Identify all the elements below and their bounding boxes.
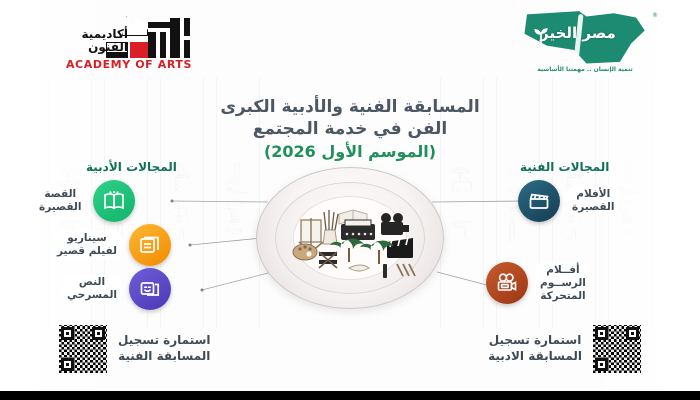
field-animation-films[interactable]: أفــلام الرســوم المتحركة: [486, 262, 591, 304]
center-plate: [256, 167, 444, 309]
qr-code-literary-icon[interactable]: [592, 324, 642, 374]
field-label-theatre-script: النص المسرحي: [62, 274, 122, 304]
registration-artistic-label: استمارة تسجيل المسابقة الفنية: [118, 333, 211, 364]
field-label-short-story: القصة القصيرة: [34, 186, 86, 216]
field-screenplay[interactable]: سيناريو لفيلم قصير: [52, 224, 171, 266]
misr-elkheir-logo: مصر الخير ® تنمية الإنسان .. مهمتنا الأس…: [504, 8, 664, 80]
literary-section-heading: المجالات الأدبية: [86, 160, 177, 174]
registration-literary-label: استمارة تسجيل المسابقة الادبية: [488, 333, 582, 364]
title-line-2: الفن في خدمة المجتمع: [0, 118, 700, 140]
field-theatre-script[interactable]: النص المسرحي: [62, 268, 171, 310]
title-line-1: المسابقة الفنية والأدبية الكبرى: [0, 96, 700, 118]
registration-literary[interactable]: استمارة تسجيل المسابقة الادبية: [488, 324, 642, 374]
misr-elkheir-name: مصر الخير: [534, 26, 622, 41]
academy-mark-icon: أكاديمية الفنون: [48, 12, 206, 58]
open-book-icon: [93, 180, 135, 222]
trademark-symbol: ®: [652, 12, 658, 19]
academy-english-name: ACADEMY OF ARTS: [52, 58, 206, 71]
screenplay-pages-icon: [129, 224, 171, 266]
academy-of-arts-logo: أكاديمية الفنون ACADEMY OF ARTS: [48, 12, 206, 76]
bottom-bar: [0, 391, 700, 400]
poster-title: المسابقة الفنية والأدبية الكبرى الفن في …: [0, 96, 700, 163]
art-supplies-cluster-icon: [257, 168, 445, 310]
movie-camera-icon: [486, 262, 528, 304]
theatre-mask-icon: [129, 268, 171, 310]
registration-artistic[interactable]: استمارة تسجيل المسابقة الفنية: [58, 324, 211, 374]
clapperboard-icon: [518, 180, 560, 222]
poster-root: 𓂀𓉐𓁹𓊃𓆓 𓏏𓂋𓈖𓇋𓋴 𓅓𓎛𓊪𓍯𓈎 𓃀𓆑𓏛𓄿𓎡 𓂀𓉐𓁹𓊃𓆓 𓏏𓂋𓈖𓇋𓋴 𓅓𓎛𓊪𓍯…: [0, 0, 700, 400]
field-label-screenplay: سيناريو لفيلم قصير: [52, 230, 122, 260]
field-short-films[interactable]: الأفلام القصيرة: [518, 180, 619, 222]
artistic-section-heading: المجالات الفنية: [520, 160, 609, 174]
field-short-story[interactable]: القصة القصيرة: [34, 180, 135, 222]
field-label-animation-films: أفــلام الرســوم المتحركة: [535, 262, 591, 304]
qr-code-artistic-icon[interactable]: [58, 324, 108, 374]
academy-arabic-name: أكاديمية الفنون: [56, 28, 128, 53]
field-label-short-films: الأفلام القصيرة: [567, 186, 619, 216]
misr-elkheir-tagline: تنمية الإنسان .. مهمتنا الأساسية: [512, 66, 658, 73]
